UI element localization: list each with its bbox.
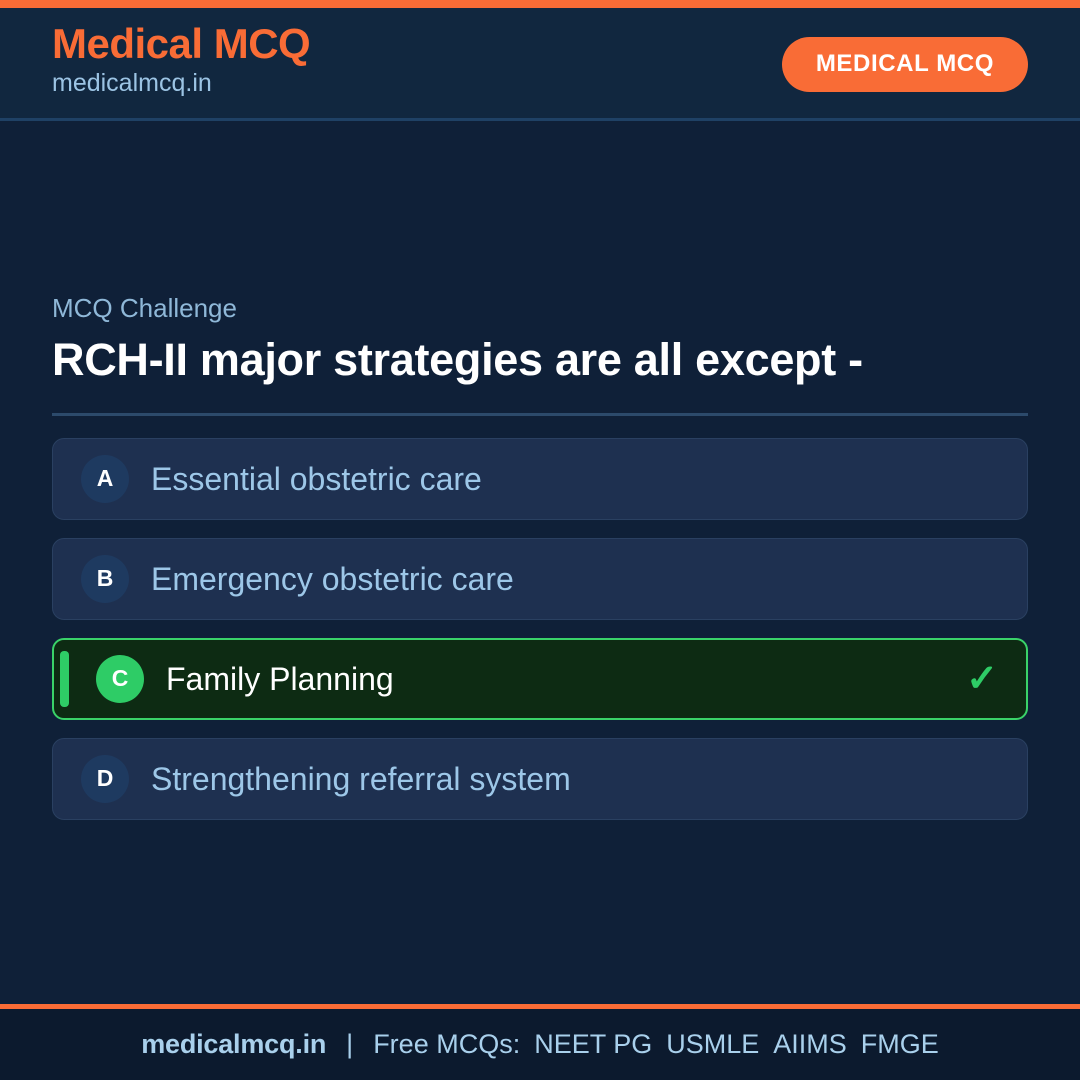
footer-tags: NEET PGUSMLEAIIMSFMGE xyxy=(520,1029,939,1060)
options-list: AEssential obstetric care✓BEmergency obs… xyxy=(52,438,1028,820)
header-badge: MEDICAL MCQ xyxy=(782,37,1028,92)
option-label: Essential obstetric care xyxy=(151,460,967,498)
correct-check-icon: ✓ xyxy=(966,660,998,698)
correct-accent-bar xyxy=(60,651,69,707)
footer-separator: | xyxy=(326,1029,373,1060)
brand-subtitle: medicalmcq.in xyxy=(52,68,310,99)
option-letter-badge: A xyxy=(81,455,129,503)
footer-tag[interactable]: FMGE xyxy=(861,1029,939,1059)
option-label: Family Planning xyxy=(166,660,966,698)
option-b[interactable]: BEmergency obstetric care✓ xyxy=(52,538,1028,620)
option-letter-badge: B xyxy=(81,555,129,603)
option-label: Emergency obstetric care xyxy=(151,560,967,598)
option-a[interactable]: AEssential obstetric care✓ xyxy=(52,438,1028,520)
option-d[interactable]: DStrengthening referral system✓ xyxy=(52,738,1028,820)
footer-tag[interactable]: AIIMS xyxy=(773,1029,847,1059)
footer-tag[interactable]: USMLE xyxy=(666,1029,759,1059)
page-header: Medical MCQ medicalmcq.in MEDICAL MCQ xyxy=(0,8,1080,121)
question-kicker: MCQ Challenge xyxy=(52,293,1028,324)
question-text: RCH-II major strategies are all except - xyxy=(52,334,952,387)
mcq-card-page: Medical MCQ medicalmcq.in MEDICAL MCQ MC… xyxy=(0,0,1080,1080)
main-content: MCQ Challenge RCH-II major strategies ar… xyxy=(0,121,1080,1004)
option-c[interactable]: CFamily Planning✓ xyxy=(52,638,1028,720)
page-footer: medicalmcq.in | Free MCQs: NEET PGUSMLEA… xyxy=(0,1004,1080,1080)
footer-site-name: medicalmcq.in xyxy=(141,1029,326,1060)
brand-title: Medical MCQ xyxy=(52,22,310,66)
option-letter-badge: D xyxy=(81,755,129,803)
footer-tag[interactable]: NEET PG xyxy=(534,1029,652,1059)
question-divider xyxy=(52,413,1028,416)
footer-tags-label: Free MCQs: xyxy=(373,1029,520,1060)
option-letter-badge: C xyxy=(96,655,144,703)
option-label: Strengthening referral system xyxy=(151,760,967,798)
question-block: MCQ Challenge RCH-II major strategies ar… xyxy=(52,293,1028,387)
brand-block: Medical MCQ medicalmcq.in xyxy=(52,22,310,99)
top-accent-bar xyxy=(0,0,1080,8)
